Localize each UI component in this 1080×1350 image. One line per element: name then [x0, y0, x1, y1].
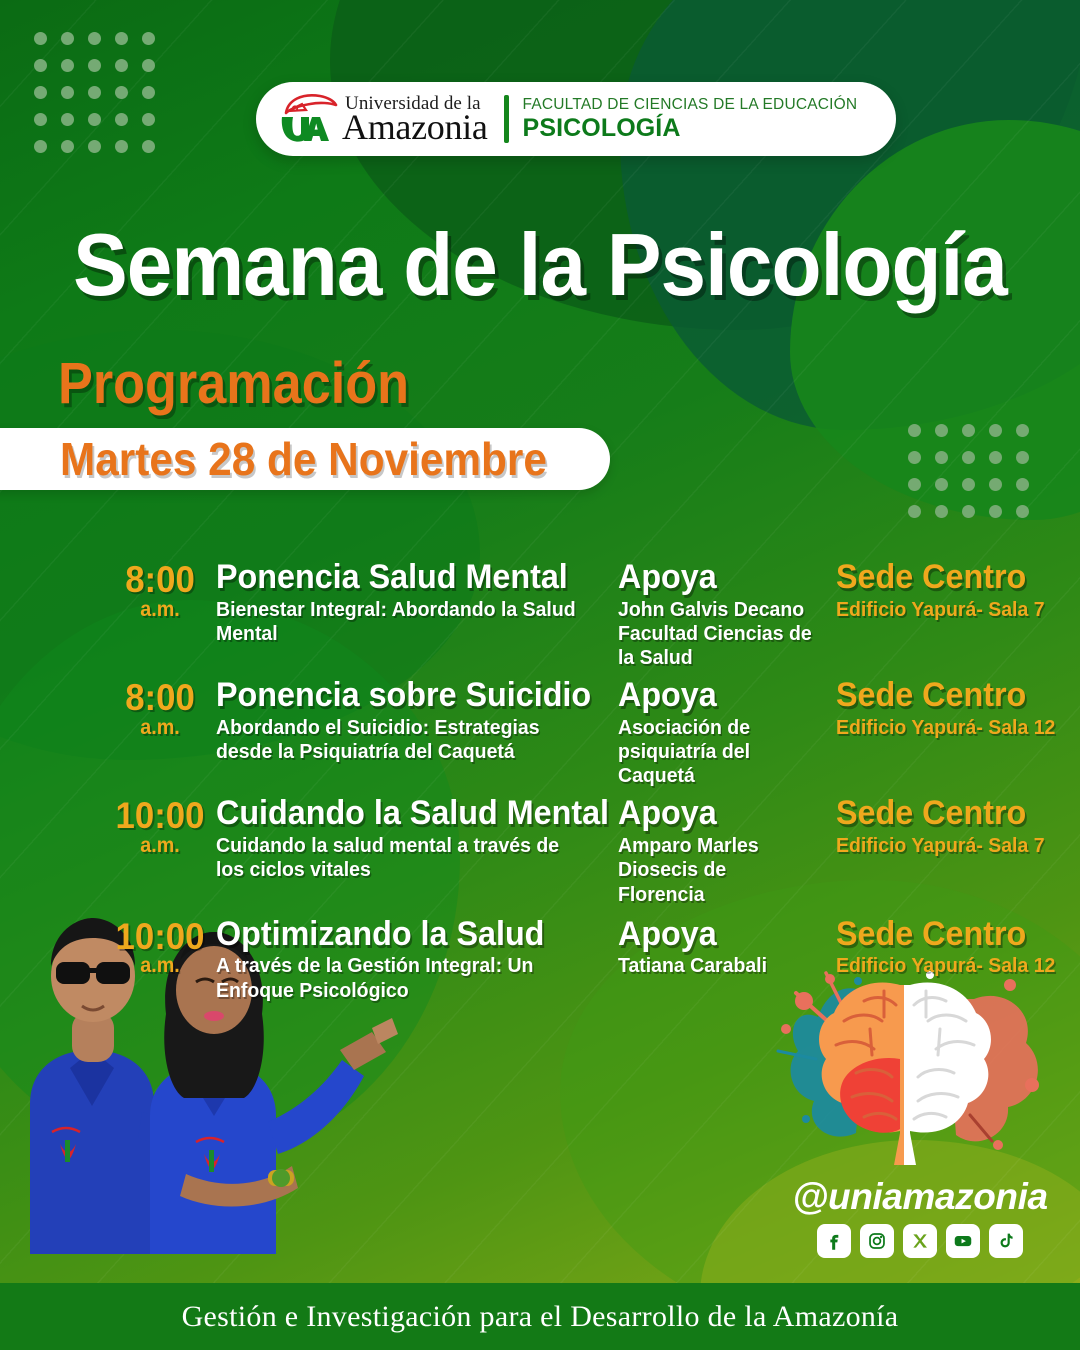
dot: [61, 59, 74, 72]
schedule-time-cell: 10:00 a.m.: [104, 796, 216, 906]
schedule-time: 10:00: [107, 798, 212, 834]
tiktok-icon[interactable]: [989, 1224, 1023, 1258]
dot: [88, 140, 101, 153]
schedule-meridiem: a.m.: [107, 835, 212, 856]
program-name: PSICOLOGÍA: [523, 115, 858, 141]
dot: [935, 451, 948, 464]
dot: [908, 505, 921, 518]
dot-grid-mid-right: [908, 424, 1029, 518]
event-date: Martes 28 de Noviembre: [60, 432, 547, 486]
dot: [962, 478, 975, 491]
footer-bar: Gestión e Investigación para el Desarrol…: [0, 1283, 1080, 1350]
social-icon-row: [770, 1224, 1070, 1258]
dot: [88, 59, 101, 72]
schedule-subtitle: A través de la Gestión Integral: Un Enfo…: [216, 954, 585, 1002]
schedule-title: Optimizando la Salud: [216, 917, 585, 952]
schedule-support-label: Apoya: [618, 560, 816, 595]
schedule-support-detail: Amparo Marles Diosecis de Florencia: [618, 834, 816, 907]
dot: [61, 86, 74, 99]
schedule-venue-cell: Sede Centro Edificio Yapurá- Sala 7: [836, 560, 1052, 670]
schedule-support-detail: Asociación de psiquiatría del Caquetá: [618, 716, 816, 789]
schedule-row: 10:00 a.m. Optimizando la Salud A través…: [104, 917, 1052, 1003]
poster-title: Semana de la Psicología: [38, 214, 1042, 316]
ua-monogram-icon: [276, 91, 338, 147]
social-handle[interactable]: @uniamazonia: [770, 1176, 1070, 1218]
schedule-title: Ponencia sobre Suicidio: [216, 678, 585, 713]
dot: [88, 86, 101, 99]
schedule-topic-cell: Ponencia Salud Mental Bienestar Integral…: [216, 560, 618, 670]
schedule-support-label: Apoya: [618, 678, 816, 713]
university-name: Universidad de la Amazonia: [342, 94, 488, 145]
dot: [115, 140, 128, 153]
footer-tagline: Gestión e Investigación para el Desarrol…: [182, 1300, 899, 1334]
faculty-name: FACULTAD DE CIENCIAS DE LA EDUCACIÓN: [523, 97, 858, 113]
dot: [115, 86, 128, 99]
dot: [34, 32, 47, 45]
social-block: @uniamazonia: [770, 1176, 1070, 1258]
dot: [88, 113, 101, 126]
schedule-list: 8:00 a.m. Ponencia Salud Mental Bienesta…: [104, 560, 1052, 1011]
dot: [34, 140, 47, 153]
dot: [115, 59, 128, 72]
schedule-meridiem: a.m.: [107, 955, 212, 976]
schedule-venue-detail: Edificio Yapurá- Sala 12: [836, 716, 1041, 740]
brand-logo-bar: Universidad de la Amazonia FACULTAD DE C…: [256, 82, 896, 156]
schedule-meridiem: a.m.: [107, 599, 212, 620]
schedule-support-detail: John Galvis Decano Facultad Ciencias de …: [618, 598, 816, 671]
schedule-title: Cuidando la Salud Mental: [216, 796, 585, 831]
dot: [142, 59, 155, 72]
x-twitter-icon[interactable]: [903, 1224, 937, 1258]
schedule-time-cell: 8:00 a.m.: [104, 678, 216, 788]
dot: [989, 451, 1002, 464]
section-label-programacion: Programación: [58, 350, 409, 417]
dot: [989, 478, 1002, 491]
schedule-subtitle: Cuidando la salud mental a través de los…: [216, 834, 585, 882]
dot: [935, 424, 948, 437]
schedule-time: 8:00: [107, 562, 212, 598]
schedule-venue-cell: Sede Centro Edificio Yapurá- Sala 12: [836, 678, 1052, 788]
dot: [962, 424, 975, 437]
dot-grid-top-left: [34, 32, 155, 153]
dot: [142, 113, 155, 126]
faculty-block: FACULTAD DE CIENCIAS DE LA EDUCACIÓN PSI…: [523, 97, 858, 142]
poster-canvas: Universidad de la Amazonia FACULTAD DE C…: [0, 0, 1080, 1350]
schedule-venue: Sede Centro: [836, 796, 1041, 831]
schedule-support-cell: Apoya Amparo Marles Diosecis de Florenci…: [618, 796, 836, 906]
dot: [989, 424, 1002, 437]
dot: [1016, 505, 1029, 518]
schedule-time-cell: 10:00 a.m.: [104, 917, 216, 1003]
schedule-support-detail: Tatiana Carabali: [618, 954, 816, 978]
schedule-support-label: Apoya: [618, 917, 816, 952]
schedule-row: 8:00 a.m. Ponencia sobre Suicidio Aborda…: [104, 678, 1052, 788]
schedule-venue-detail: Edificio Yapurá- Sala 7: [836, 834, 1041, 858]
schedule-time: 10:00: [107, 919, 212, 955]
dot: [908, 424, 921, 437]
dot: [34, 113, 47, 126]
schedule-topic-cell: Optimizando la Salud A través de la Gest…: [216, 917, 618, 1003]
dot: [962, 451, 975, 464]
schedule-row: 10:00 a.m. Cuidando la Salud Mental Cuid…: [104, 796, 1052, 906]
schedule-subtitle: Bienestar Integral: Abordando la Salud M…: [216, 598, 585, 646]
dot: [61, 32, 74, 45]
schedule-support-cell: Apoya John Galvis Decano Facultad Cienci…: [618, 560, 836, 670]
schedule-title: Ponencia Salud Mental: [216, 560, 585, 595]
dot: [989, 505, 1002, 518]
dot: [142, 86, 155, 99]
schedule-topic-cell: Ponencia sobre Suicidio Abordando el Sui…: [216, 678, 618, 788]
schedule-row: 8:00 a.m. Ponencia Salud Mental Bienesta…: [104, 560, 1052, 670]
dot: [935, 478, 948, 491]
facebook-icon[interactable]: [817, 1224, 851, 1258]
dot: [61, 140, 74, 153]
schedule-support-cell: Apoya Tatiana Carabali: [618, 917, 836, 1003]
schedule-venue-detail: Edificio Yapurá- Sala 7: [836, 598, 1041, 622]
schedule-venue: Sede Centro: [836, 678, 1041, 713]
schedule-time: 8:00: [107, 680, 212, 716]
dot: [908, 478, 921, 491]
dot: [115, 113, 128, 126]
schedule-venue: Sede Centro: [836, 560, 1041, 595]
dot: [142, 32, 155, 45]
dot: [115, 32, 128, 45]
date-pill: Martes 28 de Noviembre: [0, 428, 610, 490]
youtube-icon[interactable]: [946, 1224, 980, 1258]
schedule-meridiem: a.m.: [107, 717, 212, 738]
dot: [908, 451, 921, 464]
instagram-icon[interactable]: [860, 1224, 894, 1258]
dot: [34, 59, 47, 72]
schedule-time-cell: 8:00 a.m.: [104, 560, 216, 670]
dot: [61, 113, 74, 126]
dot: [1016, 478, 1029, 491]
schedule-venue: Sede Centro: [836, 917, 1041, 952]
dot: [142, 140, 155, 153]
logo-divider: [504, 95, 509, 143]
schedule-support-cell: Apoya Asociación de psiquiatría del Caqu…: [618, 678, 836, 788]
dot: [1016, 451, 1029, 464]
schedule-venue-cell: Sede Centro Edificio Yapurá- Sala 12: [836, 917, 1052, 1003]
dot: [935, 505, 948, 518]
schedule-subtitle: Abordando el Suicidio: Estrategias desde…: [216, 716, 585, 764]
university-name-line2: Amazonia: [342, 109, 488, 145]
schedule-support-label: Apoya: [618, 796, 816, 831]
schedule-venue-detail: Edificio Yapurá- Sala 12: [836, 954, 1041, 978]
dot: [88, 32, 101, 45]
schedule-topic-cell: Cuidando la Salud Mental Cuidando la sal…: [216, 796, 618, 906]
dot: [34, 86, 47, 99]
dot: [962, 505, 975, 518]
schedule-venue-cell: Sede Centro Edificio Yapurá- Sala 7: [836, 796, 1052, 906]
dot: [1016, 424, 1029, 437]
